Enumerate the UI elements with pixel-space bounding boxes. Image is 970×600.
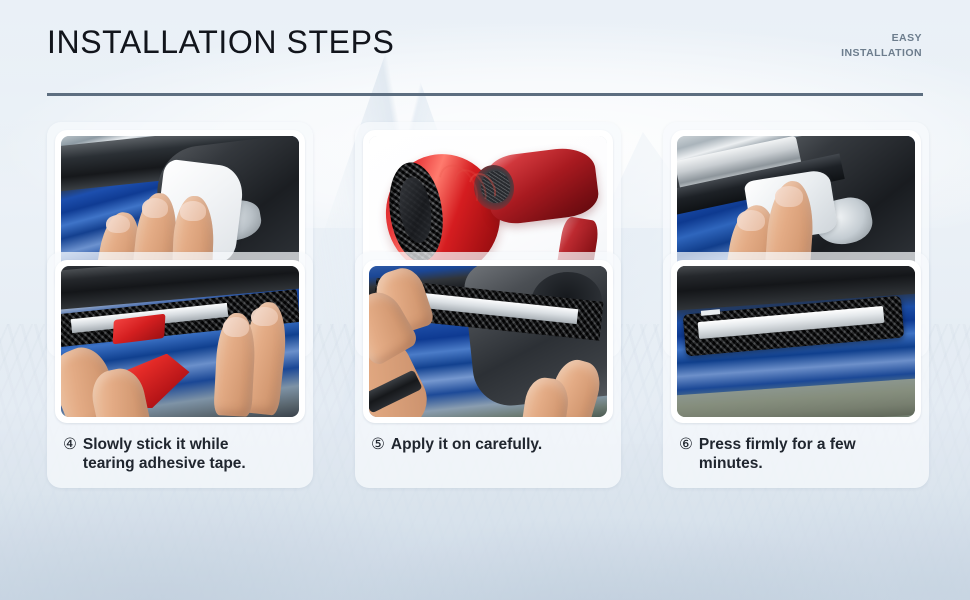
fingernail <box>180 201 206 221</box>
step-text-4: Slowly stick it while tearing adhesive t… <box>83 435 301 473</box>
step-number-4: ④ <box>63 435 77 454</box>
step-card-5: ⑤ Apply it on carefully. <box>355 252 621 488</box>
fingernail <box>737 210 766 231</box>
fingernail <box>142 198 168 218</box>
step-photo-frame-5 <box>363 260 613 423</box>
title-divider <box>47 93 923 96</box>
fingernail <box>251 307 277 327</box>
steps-grid: ① Clean and dry the surface. <box>47 122 923 370</box>
tagline: EASY INSTALLATION <box>841 31 922 61</box>
step-number-6: ⑥ <box>679 435 693 454</box>
step-number-5: ⑤ <box>371 435 385 454</box>
step-photo-frame-6 <box>671 260 921 423</box>
step-caption-5: ⑤ Apply it on carefully. <box>363 423 613 454</box>
step-text-6: Press firmly for a few minutes. <box>699 435 917 473</box>
fingernail <box>775 186 804 207</box>
tagline-line-1: EASY <box>841 31 922 46</box>
scene-stick-while-tearing <box>61 266 299 417</box>
step-photo-4 <box>61 266 299 417</box>
scene-apply-carefully <box>369 266 607 417</box>
scene-finished-result <box>677 266 915 417</box>
step-photo-5 <box>369 266 607 417</box>
step-caption-6: ⑥ Press firmly for a few minutes. <box>671 423 921 473</box>
step-card-4: ④ Slowly stick it while tearing adhesive… <box>47 252 313 488</box>
step-card-6: ⑥ Press firmly for a few minutes. <box>663 252 929 488</box>
step-photo-frame-4 <box>55 260 305 423</box>
step-text-5: Apply it on carefully. <box>391 435 609 454</box>
page-header: INSTALLATION STEPS EASY INSTALLATION <box>0 0 970 112</box>
installation-steps-page: INSTALLATION STEPS EASY INSTALLATION <box>0 0 970 600</box>
fingernail <box>106 215 130 233</box>
step-caption-4: ④ Slowly stick it while tearing adhesive… <box>55 423 305 473</box>
step-photo-6 <box>677 266 915 417</box>
fingernail <box>223 317 249 337</box>
page-title: INSTALLATION STEPS <box>47 24 394 61</box>
tagline-line-2: INSTALLATION <box>841 46 922 61</box>
